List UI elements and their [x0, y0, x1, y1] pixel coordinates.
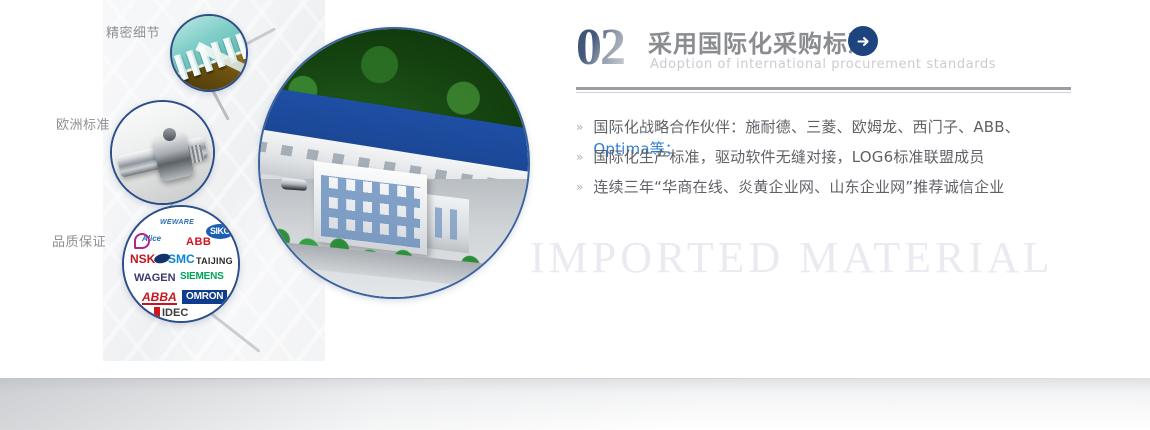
list-item-text: 国际化生产标准，驱动软件无缝对接，LOG6标准联盟成员	[593, 146, 984, 168]
logo-taijing: TAIJING	[196, 257, 233, 266]
divider-thin	[576, 92, 1071, 93]
bullet-marker-icon: »	[576, 146, 583, 168]
bullet-marker-icon: »	[576, 116, 583, 138]
logo-wagen: WAGEN	[134, 273, 176, 284]
logo-abb: ABB	[186, 237, 211, 248]
logo-weware: WEWARE	[160, 219, 194, 226]
list-item-lead: 国际化战略合作伙伴：施耐德、三菱、欧姆龙、西门子、ABB、	[593, 118, 1020, 136]
logo-siemens: SIEMENS	[180, 272, 224, 282]
logo-nsk: NSK	[130, 253, 155, 265]
feature-label-quality-assurance: 品质保证	[52, 231, 106, 250]
logo-smc: SMC	[168, 253, 195, 265]
feature-list: » 国际化战略合作伙伴：施耐德、三菱、欧姆龙、西门子、ABB、Optima等； …	[576, 116, 1076, 206]
header-divider	[576, 87, 1071, 93]
list-item-text: 连续三年“华商在线、炎黄企业网、山东企业网”推荐诚信企业	[593, 176, 1004, 198]
list-item: » 连续三年“华商在线、炎黄企业网、山东企业网”推荐诚信企业	[576, 176, 1076, 206]
brand-logos-artwork: WEWARE SIKO Alice ABB NSK SMC TAIJING WA…	[124, 207, 238, 321]
bullet-marker-icon: »	[576, 176, 583, 198]
feature-label-precision: 精密细节	[106, 22, 160, 41]
watermark-text: IMPORTED MATERIAL	[530, 232, 1054, 283]
list-item-lead: 连续三年“华商在线、炎黄企业网、山东企业网”推荐诚信企业	[593, 178, 1004, 196]
logo-idec: IDEC	[162, 308, 188, 319]
content-column: 02 采用国际化采购标准 Adoption of international p…	[576, 0, 1096, 430]
section-number: 02	[576, 22, 624, 74]
factory-building-photo	[258, 27, 530, 299]
gear-artwork	[172, 16, 246, 90]
parked-car	[281, 178, 308, 191]
screw-knob	[163, 128, 176, 141]
ball-screw-artwork	[112, 102, 213, 203]
logo-omron: OMRON	[182, 290, 227, 304]
feature-label-european-standard: 欧洲标准	[56, 114, 110, 133]
arrow-right-icon[interactable]	[848, 26, 878, 56]
logo-abba: ABBA	[142, 291, 177, 305]
floor-reflection	[0, 378, 1150, 430]
logo-alice: Alice	[142, 235, 161, 243]
list-item: » 国际化战略合作伙伴：施耐德、三菱、欧姆龙、西门子、ABB、Optima等；	[576, 116, 1076, 146]
divider-thick	[576, 87, 1071, 90]
promo-banner: 精密细节 欧洲标准 品质保证 WEWARE SIKO Alice ABB NSK…	[0, 0, 1150, 430]
page-subtitle: Adoption of international procurement st…	[650, 57, 996, 72]
factory-artwork	[260, 29, 528, 297]
page-title: 采用国际化采购标准	[648, 24, 873, 59]
list-item-lead: 国际化生产标准，驱动软件无缝对接，LOG6标准联盟成员	[593, 148, 984, 166]
ball-screw-photo	[110, 100, 215, 205]
brand-logos-photo: WEWARE SIKO Alice ABB NSK SMC TAIJING WA…	[122, 205, 240, 323]
section-header: 02 采用国际化采购标准 Adoption of international p…	[576, 0, 1096, 86]
precision-gear-photo	[170, 14, 248, 92]
